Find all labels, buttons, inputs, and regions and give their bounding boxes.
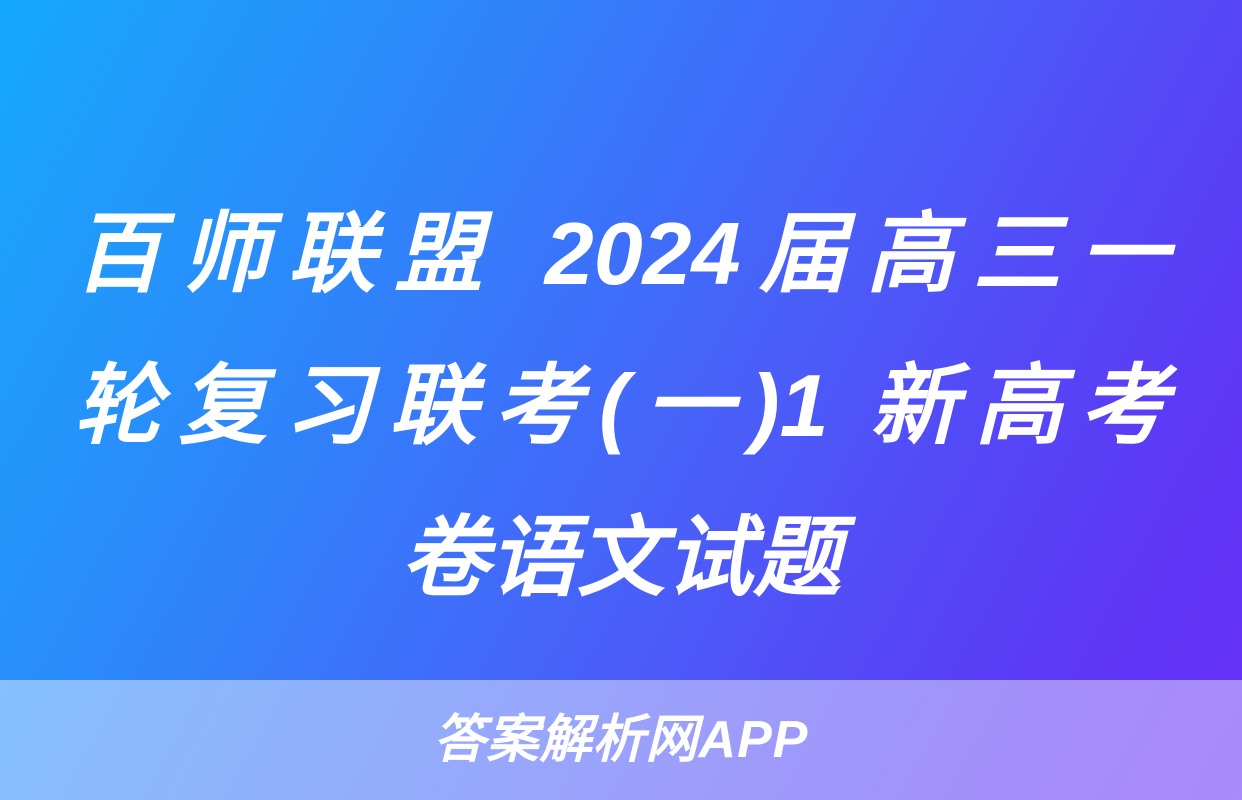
title-line-1: 百师联盟 2024届高三一 (74, 178, 1168, 330)
watermark-band: 答案解析网APP (0, 680, 1242, 800)
watermark-text: 答案解析网APP (434, 714, 809, 766)
poster-canvas: 百师联盟 2024届高三一 轮复习联考(一)1 新高考 卷语文试题 答案解析网A… (0, 0, 1242, 800)
title-line-2: 轮复习联考(一)1 新高考 (74, 330, 1168, 482)
title-line-3: 卷语文试题 (74, 482, 1168, 634)
poster-title: 百师联盟 2024届高三一 轮复习联考(一)1 新高考 卷语文试题 (74, 178, 1168, 634)
